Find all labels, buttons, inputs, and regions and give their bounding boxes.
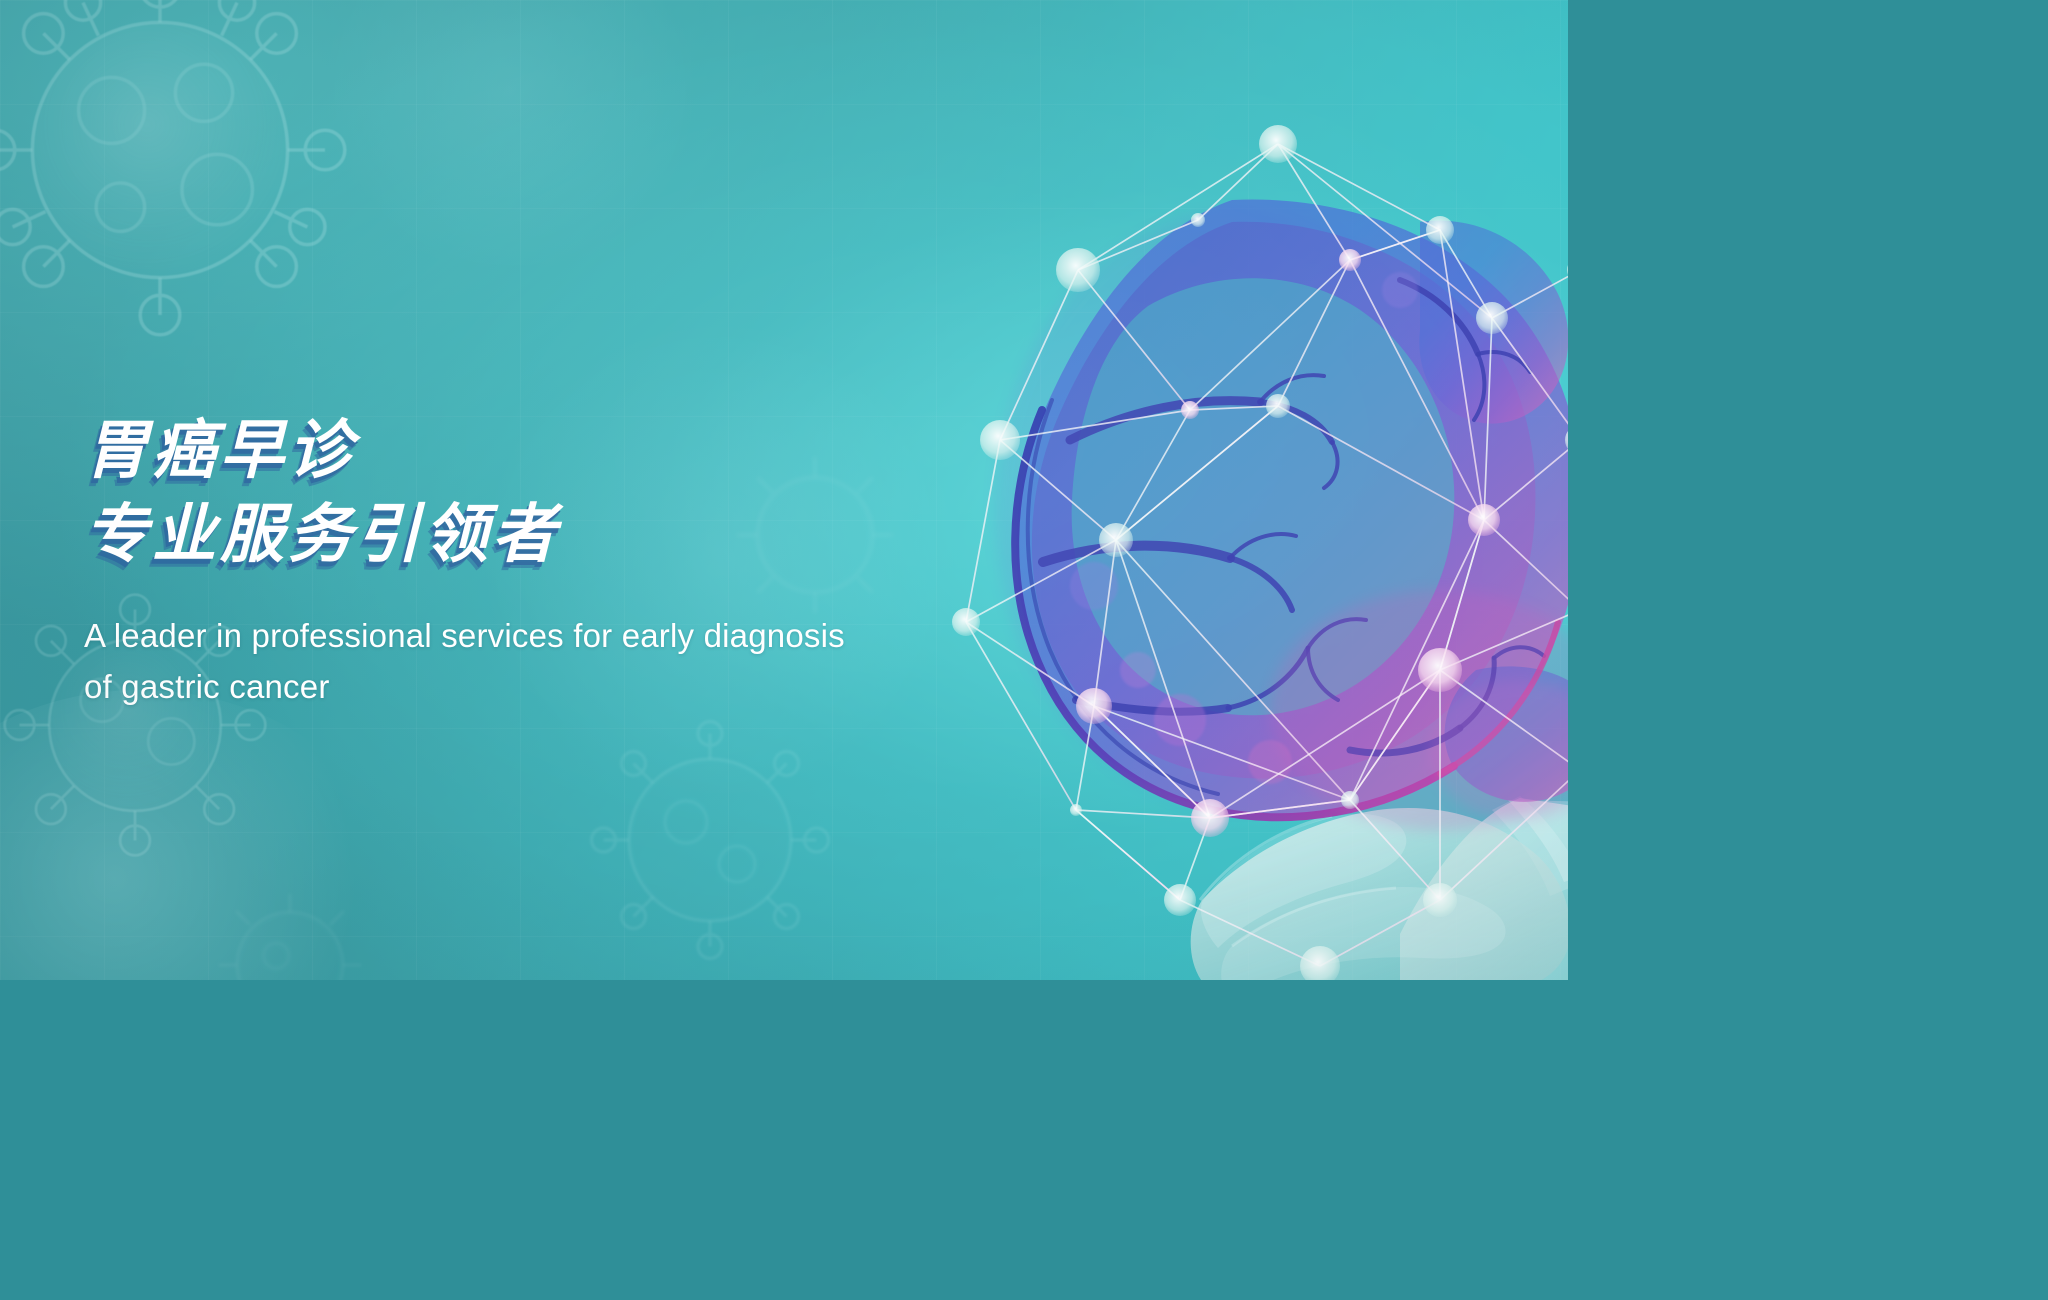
headline-line-1: 胃癌早诊	[84, 416, 904, 488]
blur-blob-top	[300, 0, 720, 270]
hero-banner: 胃癌早诊 专业服务引领者 A leader in professional se…	[0, 0, 1568, 980]
stomach-organ	[995, 199, 1568, 830]
hero-copy: 胃癌早诊 专业服务引领者 A leader in professional se…	[84, 416, 904, 712]
virus-particle-icon	[175, 850, 405, 980]
page-subtitle: A leader in professional services for ea…	[84, 611, 874, 711]
open-palm-hand	[1191, 796, 1568, 980]
headline-line-2: 专业服务引领者	[84, 500, 904, 572]
stomach-network-illustration	[880, 110, 1568, 980]
virus-particle-icon	[560, 690, 860, 980]
virus-particle-icon	[0, 0, 380, 370]
blur-blob-bottom-left	[0, 690, 400, 980]
page-title: 胃癌早诊 专业服务引领者	[84, 416, 904, 571]
network-nodes	[952, 125, 1568, 980]
network-mesh	[952, 125, 1568, 980]
